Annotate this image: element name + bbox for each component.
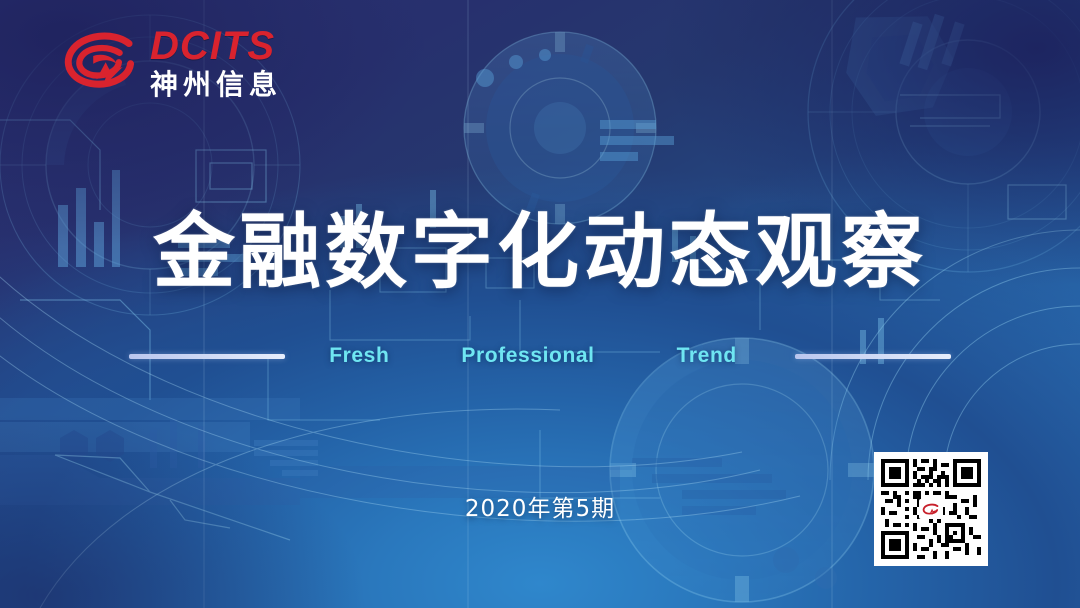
qr-matrix (881, 459, 981, 559)
dcits-swirl-icon (62, 28, 140, 98)
logo-name-en: DCITS (150, 26, 282, 66)
tagline-word-fresh: Fresh (329, 344, 389, 368)
dcits-swirl-icon (922, 503, 940, 516)
decorative-rule-left (129, 354, 285, 359)
logo-name-cn: 神州信息 (150, 71, 282, 99)
qr-code[interactable] (874, 452, 988, 566)
poster-root: DCITS 神州信息 金融数字化动态观察 Fresh Professional … (0, 0, 1080, 608)
decorative-rule-right (795, 354, 951, 359)
tagline-word-professional: Professional (461, 344, 594, 368)
page-title: 金融数字化动态观察 (0, 185, 1080, 304)
tagline-row: Fresh Professional Trend (0, 340, 1080, 372)
logo-wordmark: DCITS 神州信息 (150, 26, 282, 99)
qr-center-logo (919, 499, 943, 519)
brand-logo[interactable]: DCITS 神州信息 (62, 26, 282, 99)
tagline-word-trend: Trend (677, 344, 737, 368)
